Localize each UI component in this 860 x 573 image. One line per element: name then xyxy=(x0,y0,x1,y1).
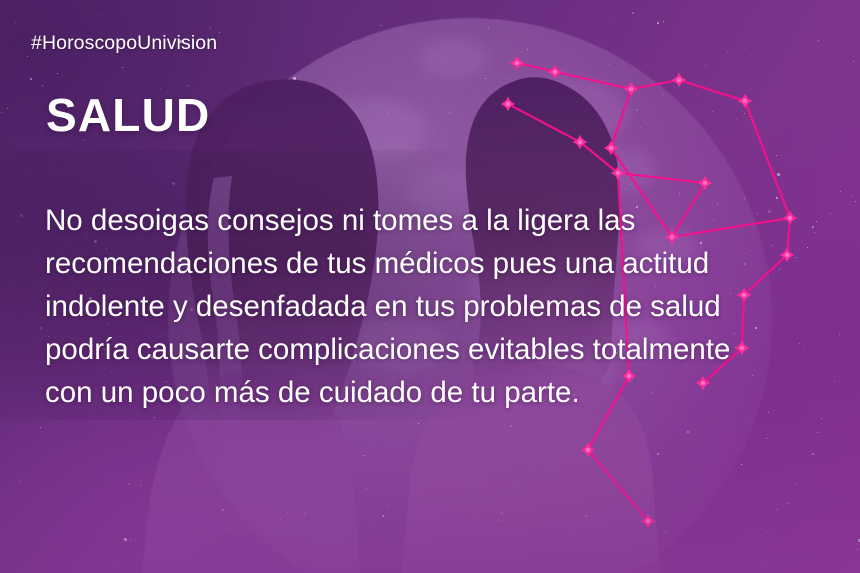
page-title: SALUD xyxy=(46,92,210,138)
horoscope-card: #HoroscopoUnivision SALUD No desoigas co… xyxy=(0,0,860,573)
content-layer: #HoroscopoUnivision SALUD No desoigas co… xyxy=(0,0,860,573)
horoscope-body-text: No desoigas consejos ni tomes a la liger… xyxy=(45,199,835,414)
hashtag-label: #HoroscopoUnivision xyxy=(31,32,217,55)
